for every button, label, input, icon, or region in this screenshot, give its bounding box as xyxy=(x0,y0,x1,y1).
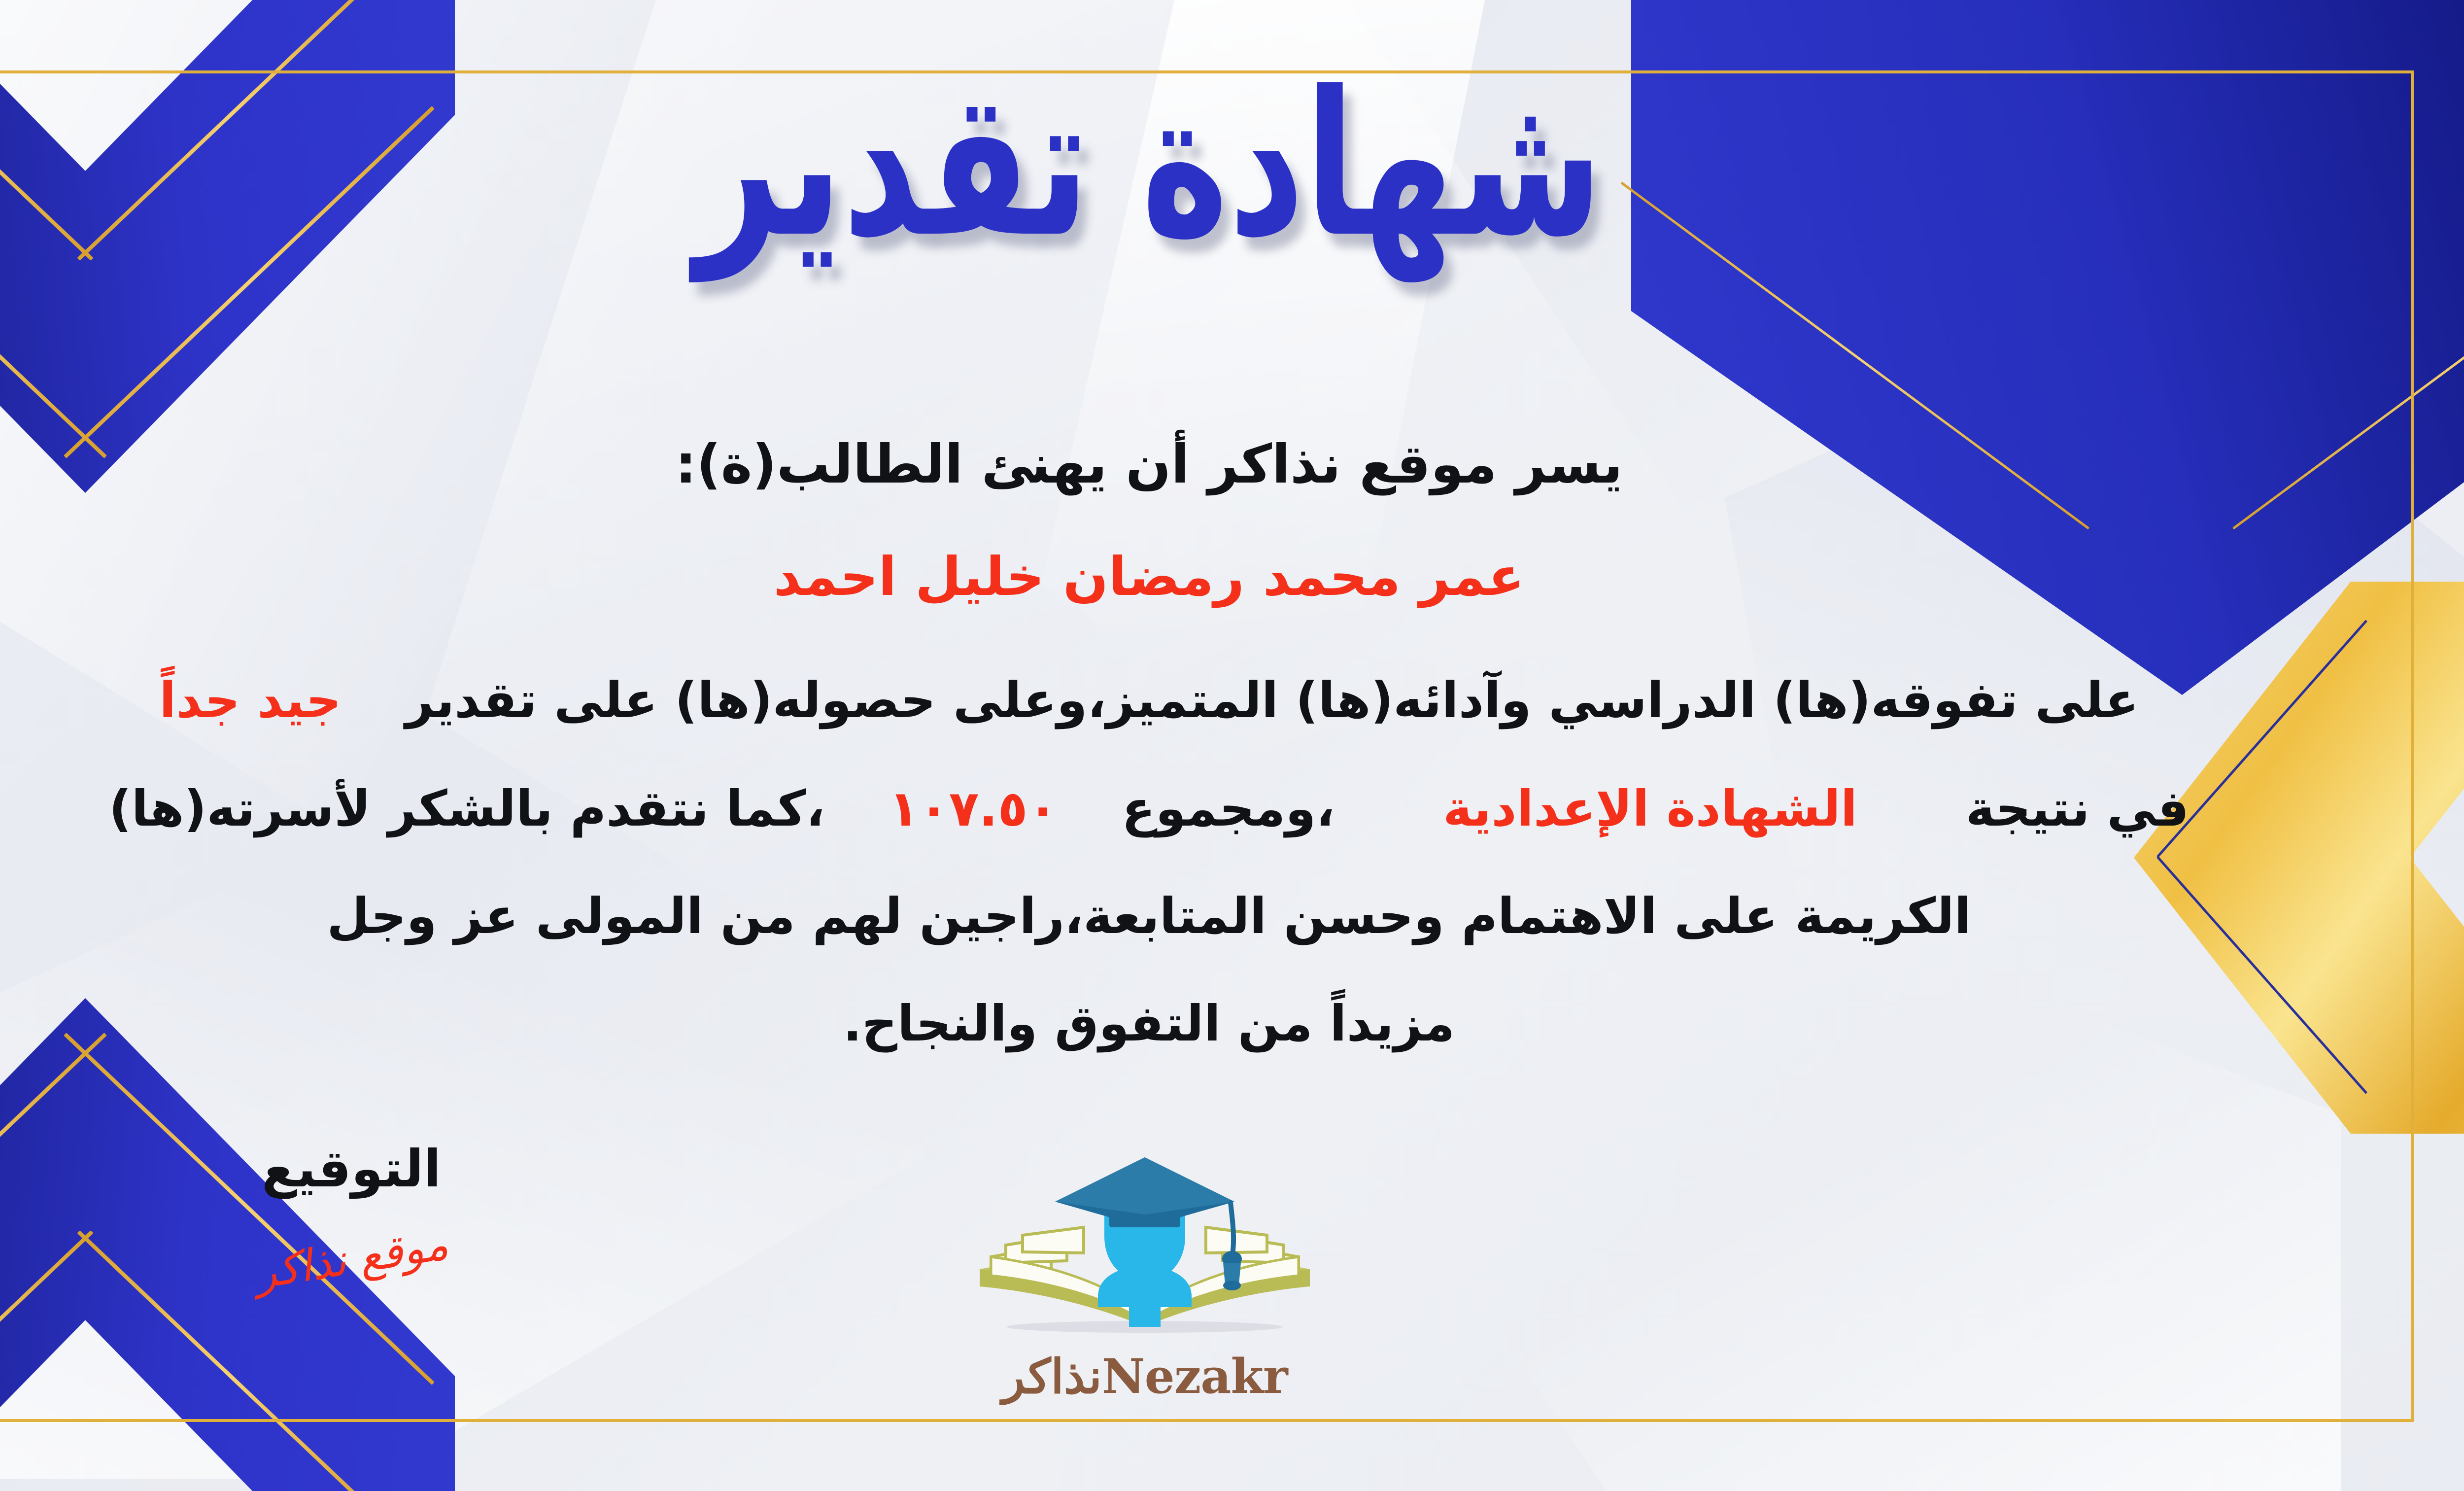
body-line-3: على تفوقه(ها) الدراسي وآدائه(ها) المتميز… xyxy=(0,671,2464,729)
grade-value: جيد جداً xyxy=(159,671,342,729)
logo-wordmark: Nezakrنذاكر xyxy=(933,1349,1357,1404)
certificate-title: شهادة تقدير xyxy=(0,66,2464,265)
logo-wordmark-arabic: نذاكر xyxy=(1002,1349,1101,1404)
exam-name: الشهادة الإعدادية xyxy=(1443,780,1857,837)
logo-artwork xyxy=(933,1134,1357,1346)
certificate-content: شهادة تقدير يسر موقع نذاكر أن يهنئ الطال… xyxy=(0,0,2464,1491)
certificate-canvas: شهادة تقدير يسر موقع نذاكر أن يهنئ الطال… xyxy=(0,0,2464,1491)
body-line-5: الكريمة على الاهتمام وحسن المتابعة،راجين… xyxy=(0,887,2464,945)
total-score: ١٠٧.٥٠ xyxy=(889,780,1058,837)
site-logo: Nezakrنذاكر xyxy=(933,1134,1357,1404)
signature-mark: موقع نذاكر xyxy=(177,1207,525,1311)
thanks-text: ،كما نتقدم بالشكر لأسرته(ها) xyxy=(109,780,825,837)
body-line-6: مزيداً من التفوق والنجاح. xyxy=(0,995,2464,1052)
result-label: في نتيجة xyxy=(1966,780,2189,837)
signature-block: التوقيع موقع نذاكر xyxy=(179,1139,524,1284)
graduate-book-icon xyxy=(933,1134,1357,1346)
intro-line: يسر موقع نذاكر أن يهنئ الطالب(ة): xyxy=(0,434,2464,495)
logo-wordmark-latin: Nezakr xyxy=(1102,1349,1288,1404)
student-name: عمر محمد رمضان خليل احمد xyxy=(0,546,2464,608)
total-label: ،ومجموع xyxy=(1122,780,1335,837)
achievement-text: على تفوقه(ها) الدراسي وآدائه(ها) المتميز… xyxy=(405,671,2138,729)
body-line-4: في نتيجة الشهادة الإعدادية ،ومجموع ١٠٧.٥… xyxy=(0,780,2464,837)
signature-label: التوقيع xyxy=(179,1139,524,1199)
